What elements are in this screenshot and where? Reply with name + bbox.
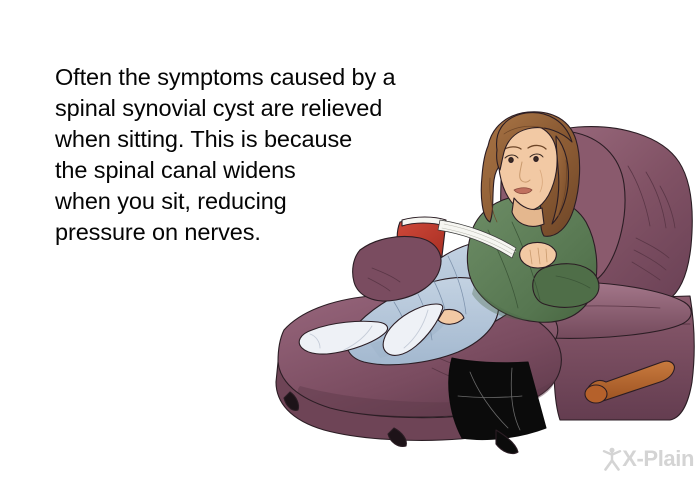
caption-line: spinal synovial cyst are relieved: [55, 93, 485, 124]
x-plain-logo: X-Plain: [599, 446, 694, 472]
caption-text-block: Often the symptoms caused by a spinal sy…: [55, 62, 485, 248]
caption-line: the spinal canal widens: [55, 155, 485, 186]
slide-canvas: Often the symptoms caused by a spinal sy…: [0, 0, 700, 480]
x-plain-logo-text: X-Plain: [622, 448, 694, 470]
caption-line: pressure on nerves.: [55, 217, 485, 248]
caption-line: when you sit, reducing: [55, 186, 485, 217]
caption-line: when sitting. This is because: [55, 124, 485, 155]
caption-line: Often the symptoms caused by a: [55, 62, 485, 93]
